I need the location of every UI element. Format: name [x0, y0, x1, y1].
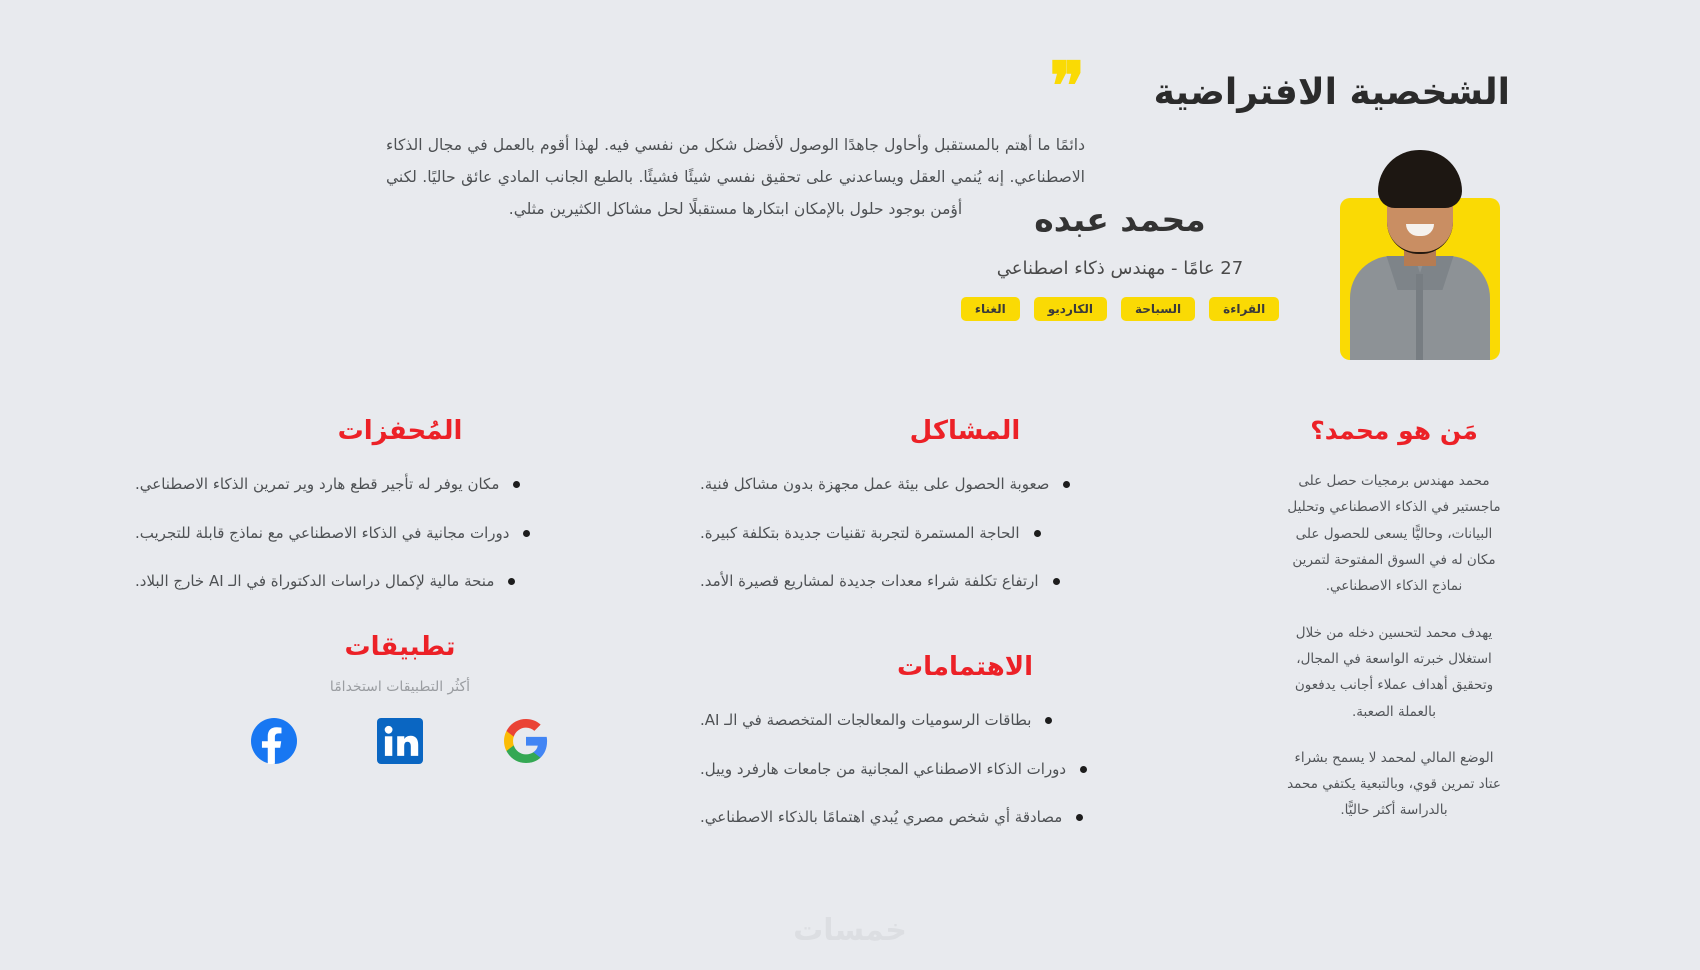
interests-item-1: بطاقات الرسوميات والمعالجات المتخصصة في …: [700, 709, 1031, 732]
bullet-icon: [1053, 578, 1060, 585]
quote-block: ❞ دائمًا ما أهتم بالمستقبل وأحاول جاهدًا…: [380, 68, 1085, 225]
bullet-icon: [1076, 814, 1083, 821]
watermark: خمسات: [793, 913, 907, 948]
motivations-section-title: المُحفزات: [135, 416, 665, 447]
avatar-photo: [1342, 148, 1498, 360]
apps-section-title: تطبيقات: [135, 632, 665, 663]
bullet-icon: [1063, 481, 1070, 488]
profile-tag-list: القراءة السباحة الكارديو الغناء: [920, 297, 1320, 321]
interests-item-3: مصادقة أي شخص مصري يُبدي اهتمامًا بالذكا…: [700, 806, 1062, 829]
section-who-is-mohamed: مَن هو محمد؟ محمد مهندس برمجيات حصل على …: [1283, 416, 1505, 824]
list-item: بطاقات الرسوميات والمعالجات المتخصصة في …: [700, 709, 1230, 732]
linkedin-icon[interactable]: [376, 717, 424, 765]
problems-list: صعوبة الحصول على بيئة عمل مجهزة بدون مشا…: [700, 473, 1230, 593]
problems-item-3: ارتفاع تكلفة شراء معدات جديدة لمشاريع قص…: [700, 570, 1039, 593]
section-problems: المشاكل صعوبة الحصول على بيئة عمل مجهزة …: [700, 416, 1230, 619]
bullet-icon: [508, 578, 515, 585]
motivations-list: مكان يوفر له تأجير قطع هارد وير تمرين ال…: [135, 473, 665, 593]
profile-role: 27 عامًا - مهندس ذكاء اصطناعي: [920, 258, 1320, 279]
list-item: مصادقة أي شخص مصري يُبدي اهتمامًا بالذكا…: [700, 806, 1230, 829]
quote-text: دائمًا ما أهتم بالمستقبل وأحاول جاهدًا ا…: [380, 130, 1085, 225]
motivations-item-1: مكان يوفر له تأجير قطع هارد وير تمرين ال…: [135, 473, 499, 496]
apps-subtitle: أكثُر التطبيقات استخدامًا: [135, 679, 665, 695]
who-section-title: مَن هو محمد؟: [1283, 416, 1505, 446]
motivations-item-2: دورات مجانية في الذكاء الاصطناعي مع نماذ…: [135, 522, 509, 545]
profile-tag-singing[interactable]: الغناء: [961, 297, 1020, 321]
profile-tag-reading[interactable]: القراءة: [1209, 297, 1279, 321]
interests-list: بطاقات الرسوميات والمعالجات المتخصصة في …: [700, 709, 1230, 829]
bullet-icon: [523, 530, 530, 537]
problems-section-title: المشاكل: [700, 416, 1230, 447]
bullet-icon: [1080, 766, 1087, 773]
list-item: صعوبة الحصول على بيئة عمل مجهزة بدون مشا…: [700, 473, 1230, 496]
profile-tag-swimming[interactable]: السباحة: [1121, 297, 1195, 321]
list-item: ارتفاع تكلفة شراء معدات جديدة لمشاريع قص…: [700, 570, 1230, 593]
list-item: منحة مالية لإكمال دراسات الدكتوراة في ال…: [135, 570, 665, 593]
bullet-icon: [1045, 717, 1052, 724]
quote-mark-icon: ❞: [1049, 63, 1085, 109]
bullet-icon: [513, 481, 520, 488]
who-paragraph-2: يهدف محمد لتحسين دخله من خلال استغلال خب…: [1283, 620, 1505, 725]
interests-item-2: دورات الذكاء الاصطناعي المجانية من جامعا…: [700, 758, 1066, 781]
google-icon[interactable]: [502, 717, 550, 765]
avatar: [1340, 148, 1505, 360]
list-item: دورات مجانية في الذكاء الاصطناعي مع نماذ…: [135, 522, 665, 545]
list-item: دورات الذكاء الاصطناعي المجانية من جامعا…: [700, 758, 1230, 781]
list-item: الحاجة المستمرة لتجربة تقنيات جديدة بتكل…: [700, 522, 1230, 545]
who-paragraph-3: الوضع المالي لمحمد لا يسمح بشراء عتاد تم…: [1283, 745, 1505, 824]
motivations-item-3: منحة مالية لإكمال دراسات الدكتوراة في ال…: [135, 570, 494, 593]
list-item: مكان يوفر له تأجير قطع هارد وير تمرين ال…: [135, 473, 665, 496]
apps-icon-row: [135, 717, 665, 765]
problems-item-1: صعوبة الحصول على بيئة عمل مجهزة بدون مشا…: [700, 473, 1049, 496]
section-apps: تطبيقات أكثُر التطبيقات استخدامًا: [135, 632, 665, 765]
interests-section-title: الاهتمامات: [700, 652, 1230, 683]
section-motivations: المُحفزات مكان يوفر له تأجير قطع هارد وي…: [135, 416, 665, 619]
facebook-icon[interactable]: [250, 717, 298, 765]
problems-item-2: الحاجة المستمرة لتجربة تقنيات جديدة بتكل…: [700, 522, 1020, 545]
section-interests: الاهتمامات بطاقات الرسوميات والمعالجات ا…: [700, 652, 1230, 855]
page-title: الشخصية الافتراضية: [1154, 72, 1510, 113]
profile-tag-cardio[interactable]: الكارديو: [1034, 297, 1107, 321]
who-paragraph-1: محمد مهندس برمجيات حصل على ماجستير في ال…: [1283, 468, 1505, 600]
bullet-icon: [1034, 530, 1041, 537]
